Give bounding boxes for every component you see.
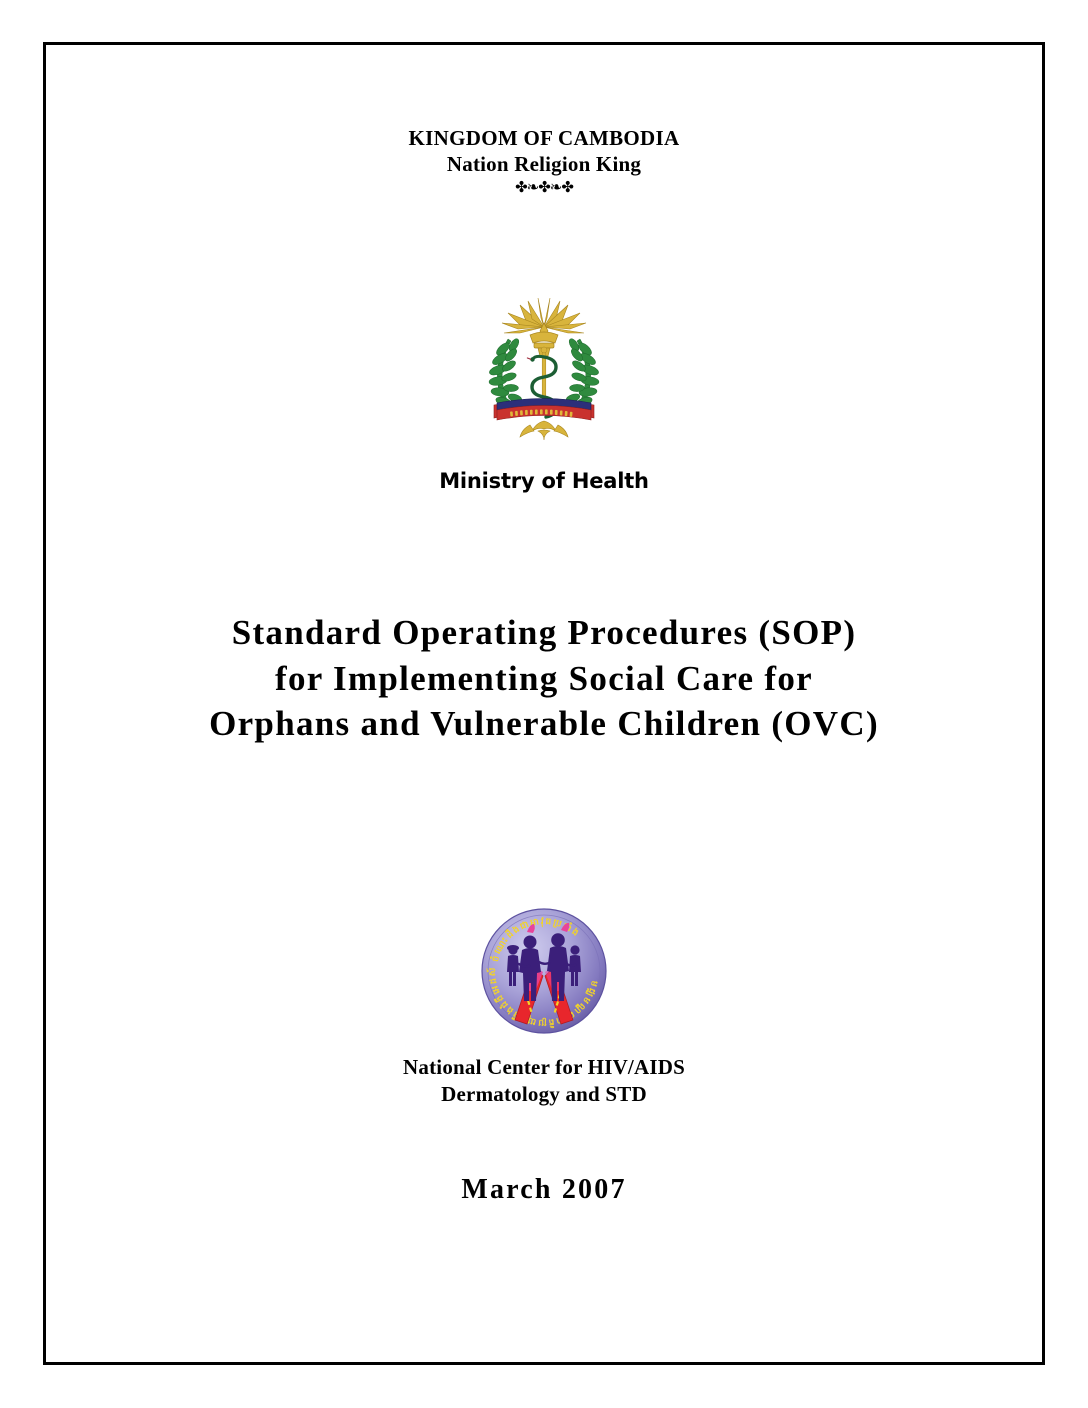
- ornament-divider: ✤❧✤❧✤: [46, 180, 1042, 195]
- ministry-label: Ministry of Health: [46, 469, 1042, 493]
- organization-name: National Center for HIV/AIDS Dermatology…: [46, 1054, 1042, 1109]
- title-line-1: Standard Operating Procedures (SOP): [46, 610, 1042, 656]
- org-line-2: Dermatology and STD: [46, 1081, 1042, 1108]
- publication-date: March 2007: [46, 1174, 1042, 1206]
- country-name: KINGDOM OF CAMBODIA: [46, 125, 1042, 151]
- national-motto: Nation Religion King: [46, 151, 1042, 177]
- page-content: KINGDOM OF CAMBODIA Nation Religion King…: [46, 45, 1042, 1362]
- kingdom-header: KINGDOM OF CAMBODIA Nation Religion King…: [46, 125, 1042, 195]
- document-title: Standard Operating Procedures (SOP) for …: [46, 610, 1042, 747]
- nchads-hiv-aids-logo-icon: ចំណេះដឹងជាអាវុធប្រឆាំង មជ្ឈមណ្ឌលជាតិប្រយ…: [475, 902, 613, 1040]
- org-line-1: National Center for HIV/AIDS: [46, 1054, 1042, 1081]
- title-line-2: for Implementing Social Care for: [46, 656, 1042, 702]
- title-line-3: Orphans and Vulnerable Children (OVC): [46, 701, 1042, 747]
- cambodia-ministry-of-health-emblem-icon: [464, 295, 624, 450]
- page-border-frame: KINGDOM OF CAMBODIA Nation Religion King…: [43, 42, 1045, 1365]
